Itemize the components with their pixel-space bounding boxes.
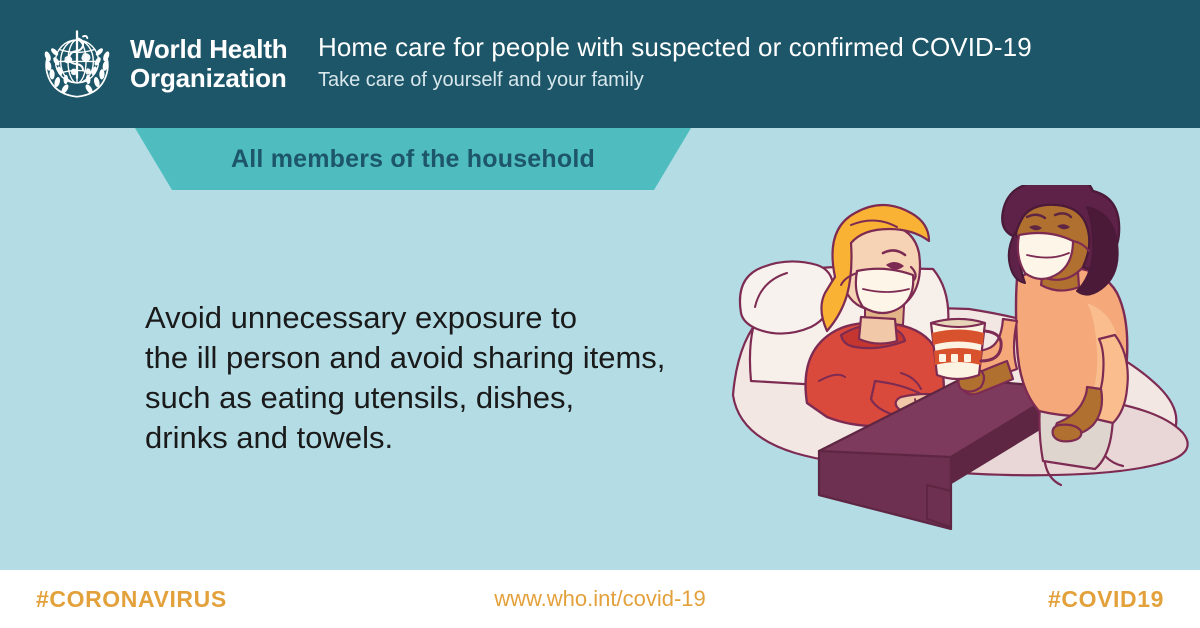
who-logo: World Health Organization [34,21,287,107]
header-text-block: Home care for people with suspected or c… [318,30,1138,94]
who-logo-text: World Health Organization [130,35,287,93]
body-line-2: the ill person and avoid sharing items, [145,338,745,378]
footer-bar: #CORONAVIRUS www.who.int/covid-19 #COVID… [0,570,1200,628]
footer-url[interactable]: www.who.int/covid-19 [0,586,1200,612]
cup-rim [931,319,985,327]
footer-hashtag-covid19: #COVID19 [1048,586,1164,613]
body-copy: Avoid unnecessary exposure to the ill pe… [145,298,745,458]
body-line-1: Avoid unnecessary exposure to [145,298,745,338]
section-banner-label: All members of the household [135,128,691,190]
who-logo-line2: Organization [130,64,287,93]
who-emblem-icon [34,21,120,107]
patient-neck [859,317,897,344]
header-subtitle: Take care of yourself and your family [318,66,1138,94]
poster-canvas: World Health Organization Home care for … [0,0,1200,628]
body-line-3: such as eating utensils, dishes, [145,378,745,418]
header-bar: World Health Organization Home care for … [0,0,1200,128]
home-care-illustration [715,185,1195,530]
who-logo-line1: World Health [130,35,287,64]
section-banner: All members of the household [0,128,1200,190]
tray-table-leg [927,485,951,527]
caregiver-hand-hip [1053,425,1082,442]
cup-pattern [939,354,971,362]
header-title: Home care for people with suspected or c… [318,30,1138,64]
body-line-4: drinks and towels. [145,418,745,458]
